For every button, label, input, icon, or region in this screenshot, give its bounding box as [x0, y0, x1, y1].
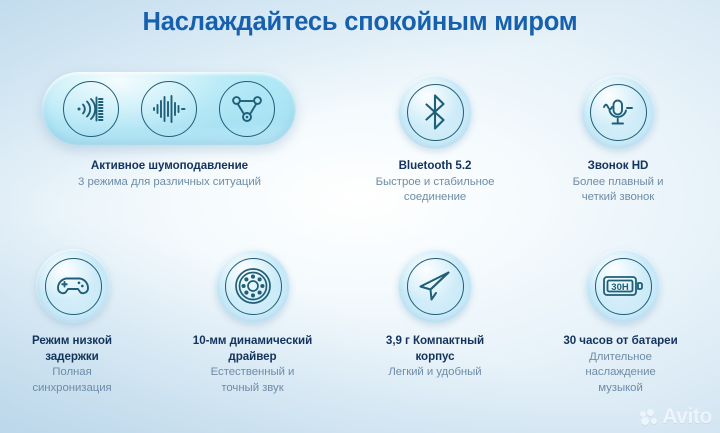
battery-icon: 30Н: [595, 258, 652, 315]
feature-bluetooth-subtitle-2: соединение: [345, 190, 525, 206]
feature-low-latency-title-2: задержки: [2, 349, 142, 365]
feature-battery-title-1: 30 часов от батареи: [528, 333, 713, 349]
feature-bluetooth-title: Bluetooth 5.2: [345, 158, 525, 174]
feature-compact-subtitle-1: Легкий и удобный: [345, 365, 525, 381]
feature-driver-title-2: драйвер: [165, 349, 340, 365]
noise-cancelling-icon: [63, 81, 119, 137]
feature-hd-call-subtitle-2: четкий звонок: [528, 190, 708, 206]
feature-low-latency-title-1: Режим низкой: [2, 333, 142, 349]
feature-driver-title-1: 10-мм динамический: [165, 333, 340, 349]
feature-battery-text: 30 часов от батареи Длительное наслажден…: [528, 333, 713, 396]
feature-anc-subtitle: 3 режима для различных ситуаций: [22, 175, 317, 191]
battery-badge: 30Н: [586, 249, 660, 323]
feature-low-latency-subtitle-2: синхронизация: [2, 381, 142, 397]
speaker-driver-icon: [225, 258, 282, 315]
feature-battery-subtitle-1: Длительное: [528, 350, 713, 366]
feature-driver-text: 10-мм динамический драйвер Естественный …: [165, 333, 340, 396]
feature-low-latency-subtitle-1: Полная: [2, 365, 142, 381]
hd-call-microphone-icon: [590, 84, 647, 141]
feature-battery-subtitle-2: наслаждение: [528, 365, 713, 381]
feature-low-latency-text: Режим низкой задержки Полная синхронизац…: [2, 333, 142, 396]
feature-bluetooth-subtitle-1: Быстрое и стабильное: [345, 175, 525, 191]
driver-badge: [216, 249, 290, 323]
avito-wordmark: Avito: [662, 405, 712, 429]
page-title: Наслаждайтесь спокойным миром: [0, 8, 720, 37]
avito-dots-icon: [640, 409, 659, 426]
feature-hd-call-text: Звонок HD Более плавный и четкий звонок: [528, 158, 708, 206]
feature-compact-title-1: 3,9 г Компактный: [345, 333, 525, 349]
sound-waveform-icon: [141, 81, 197, 137]
promo-banner: Наслаждайтесь спокойным миром: [0, 0, 720, 433]
feature-bluetooth-text: Bluetooth 5.2 Быстрое и стабильное соеди…: [345, 158, 525, 206]
anc-icon-group: [42, 72, 296, 145]
bluetooth-icon: [407, 84, 464, 141]
bluetooth-badge: [398, 75, 472, 149]
compact-badge: [398, 249, 472, 323]
feature-driver-subtitle-1: Естественный и: [165, 365, 340, 381]
feature-anc-text: Активное шумоподавление 3 режима для раз…: [22, 158, 317, 190]
feature-compact-text: 3,9 г Компактный корпус Легкий и удобный: [345, 333, 525, 381]
feature-battery-subtitle-3: музыкой: [528, 381, 713, 397]
feature-hd-call-subtitle-1: Более плавный и: [528, 175, 708, 191]
hd-call-badge: [581, 75, 655, 149]
avito-watermark: Avito: [640, 405, 712, 429]
feature-hd-call-title: Звонок HD: [528, 158, 708, 174]
feature-driver-subtitle-2: точный звук: [165, 381, 340, 397]
low-latency-badge: [36, 249, 110, 323]
battery-label: 30Н: [611, 282, 629, 293]
transparency-mode-icon: [219, 81, 275, 137]
feature-anc-title: Активное шумоподавление: [22, 158, 317, 174]
gamepad-icon: [45, 258, 102, 315]
feature-compact-title-2: корпус: [345, 349, 525, 365]
paper-plane-icon: [407, 258, 464, 315]
